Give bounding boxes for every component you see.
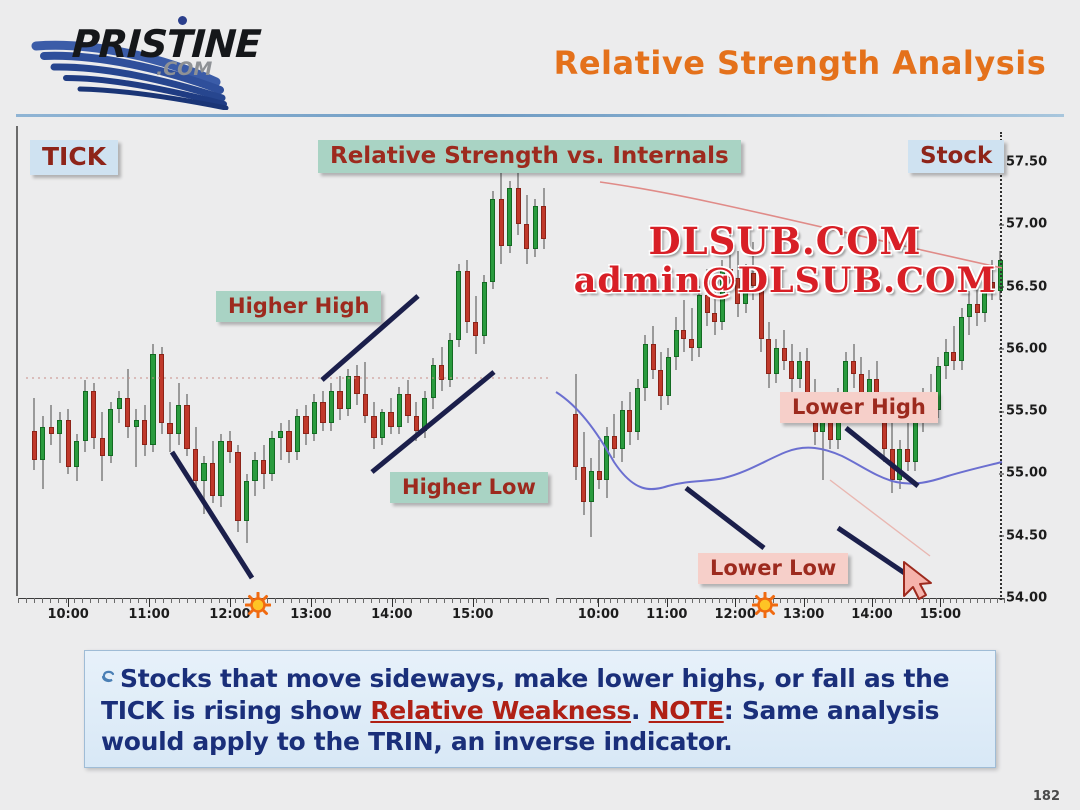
time-tick <box>997 598 998 603</box>
candle-body <box>905 449 910 462</box>
candlestick <box>789 120 794 590</box>
candlestick <box>573 120 578 590</box>
caption-text: Stocks that move sideways, make lower hi… <box>101 661 979 758</box>
time-tick <box>18 598 19 603</box>
time-tick <box>524 598 525 603</box>
time-tick <box>347 598 348 603</box>
time-axis-stock-panel: 10:0011:0012:0013:0014:0015:00 <box>556 598 1004 620</box>
candle-body <box>774 348 779 374</box>
time-tick <box>428 598 429 603</box>
candle-body <box>627 410 632 432</box>
candlestick <box>959 120 964 590</box>
time-tick <box>379 598 380 603</box>
time-tick <box>644 598 645 603</box>
time-tick <box>909 598 910 603</box>
candlestick <box>967 120 972 590</box>
candlestick <box>944 120 949 590</box>
candlestick <box>697 120 702 590</box>
candle-wick <box>953 326 955 370</box>
caption-emphasis-1: Relative Weakness <box>370 696 631 725</box>
candlestick <box>604 120 609 590</box>
time-tick <box>395 598 396 603</box>
candlestick <box>728 120 733 590</box>
time-tick <box>371 598 372 603</box>
label-banner: Relative Strength vs. Internals <box>318 140 741 173</box>
time-tick-label: 13:00 <box>783 607 824 622</box>
time-tick <box>339 598 340 603</box>
price-tick-label: 54.00 <box>1006 591 1047 606</box>
time-tick <box>895 598 896 603</box>
candle-body <box>944 352 949 365</box>
time-tick <box>460 598 461 603</box>
candlestick <box>581 120 586 590</box>
time-tick <box>848 598 849 603</box>
candle-body <box>913 418 918 462</box>
candlestick <box>589 120 594 590</box>
time-tick-major <box>872 598 873 607</box>
candle-body <box>612 436 617 449</box>
price-tick-label: 56.00 <box>1006 341 1047 356</box>
time-tick <box>307 598 308 603</box>
candle-body <box>651 344 656 370</box>
candle-body <box>975 304 980 313</box>
time-tick <box>732 598 733 603</box>
time-tick <box>828 598 829 603</box>
candlestick <box>851 120 856 590</box>
candle-body <box>967 304 972 317</box>
time-tick <box>570 598 571 603</box>
time-tick <box>138 598 139 603</box>
candlestick <box>627 120 632 590</box>
candlestick <box>620 120 625 590</box>
time-tick-label: 15:00 <box>452 607 493 622</box>
time-tick <box>617 598 618 603</box>
time-tick <box>956 598 957 603</box>
candle-wick <box>691 308 693 361</box>
watermark-line-2: admin@DLSUB.COM <box>545 262 1025 300</box>
time-tick <box>705 598 706 603</box>
candlestick <box>805 120 810 590</box>
time-tick <box>90 598 91 603</box>
candlestick <box>867 120 872 590</box>
time-tick <box>211 598 212 603</box>
time-tick <box>882 598 883 603</box>
time-tick <box>355 598 356 603</box>
candle-body <box>766 339 771 374</box>
candle-body <box>635 388 640 432</box>
price-tick-label: 55.00 <box>1006 466 1047 481</box>
time-tick-label: 11:00 <box>646 607 687 622</box>
time-tick <box>315 598 316 603</box>
candle-body <box>789 361 794 379</box>
caption-box: Stocks that move sideways, make lower hi… <box>84 650 996 768</box>
time-tick <box>556 598 557 603</box>
candlestick <box>913 120 918 590</box>
time-tick-major <box>311 598 312 607</box>
time-tick <box>970 598 971 603</box>
time-tick <box>929 598 930 603</box>
candle-body <box>782 348 787 361</box>
time-tick-major <box>473 598 474 607</box>
time-tick-major <box>68 598 69 607</box>
candle-body <box>674 330 679 356</box>
label-lower-low: Lower Low <box>698 553 848 584</box>
time-tick <box>74 598 75 603</box>
time-tick <box>950 598 951 603</box>
candlestick <box>882 120 887 590</box>
time-tick <box>1004 598 1005 603</box>
time-tick <box>610 598 611 603</box>
candlestick <box>635 120 640 590</box>
time-tick-major <box>940 598 941 607</box>
candlestick <box>897 120 902 590</box>
time-tick <box>34 598 35 603</box>
time-tick <box>187 598 188 603</box>
time-tick <box>739 598 740 603</box>
time-tick <box>875 598 876 603</box>
time-tick <box>452 598 453 603</box>
candlestick <box>720 120 725 590</box>
time-tick <box>50 598 51 603</box>
time-tick <box>42 598 43 603</box>
time-tick <box>203 598 204 603</box>
pristine-logo: PRISTINE .COM <box>30 6 270 102</box>
candlestick <box>597 120 602 590</box>
time-tick <box>492 598 493 603</box>
time-tick <box>794 598 795 603</box>
time-tick <box>291 598 292 603</box>
candlestick <box>975 120 980 590</box>
time-tick <box>26 598 27 603</box>
candle-body <box>697 295 702 348</box>
candle-body <box>897 449 902 480</box>
candlestick <box>782 120 787 590</box>
bullet-icon <box>101 661 116 676</box>
label-higher-high: Higher High <box>216 291 381 322</box>
time-tick <box>902 598 903 603</box>
candle-body <box>620 410 625 450</box>
time-tick <box>219 598 220 603</box>
time-tick <box>841 598 842 603</box>
candle-body <box>604 436 609 480</box>
caption-part-2: . <box>631 696 649 725</box>
candle-wick <box>907 423 909 471</box>
time-tick <box>484 598 485 603</box>
time-tick <box>163 598 164 603</box>
time-tick <box>532 598 533 603</box>
time-tick <box>468 598 469 603</box>
time-tick-label: 11:00 <box>128 607 169 622</box>
candlestick <box>982 120 987 590</box>
price-tick-label: 54.50 <box>1006 528 1047 543</box>
time-axis-tick-panel: 10:0011:0012:0013:0014:0015:00 <box>18 598 548 620</box>
slide-header: PRISTINE .COM Relative Strength Analysis <box>0 0 1080 110</box>
time-tick <box>130 598 131 603</box>
candlestick <box>797 120 802 590</box>
candlestick <box>666 120 671 590</box>
candlestick <box>890 120 895 590</box>
candlestick <box>751 120 756 590</box>
time-tick <box>548 598 549 603</box>
time-tick <box>943 598 944 603</box>
time-tick-major <box>230 598 231 607</box>
candle-wick <box>683 300 685 353</box>
candlestick <box>759 120 764 590</box>
time-tick-label: 15:00 <box>920 607 961 622</box>
candlestick <box>836 120 841 590</box>
candlestick <box>828 120 833 590</box>
time-tick <box>323 598 324 603</box>
time-tick <box>726 598 727 603</box>
time-tick <box>814 598 815 603</box>
candle-body <box>681 330 686 339</box>
time-tick <box>516 598 517 603</box>
time-tick <box>444 598 445 603</box>
candle-body <box>890 449 895 480</box>
candlestick <box>735 120 740 590</box>
candlestick <box>712 120 717 590</box>
time-tick-major <box>735 598 736 607</box>
time-tick <box>787 598 788 603</box>
logo-suffix-text: .COM <box>156 58 212 80</box>
time-tick <box>678 598 679 603</box>
candlestick <box>689 120 694 590</box>
logo-dot-icon <box>178 16 187 25</box>
time-tick <box>889 598 890 603</box>
page-number: 182 <box>1033 789 1060 804</box>
time-tick <box>476 598 477 603</box>
time-tick <box>977 598 978 603</box>
time-tick-major <box>392 598 393 607</box>
time-tick <box>58 598 59 603</box>
time-tick-major <box>667 598 668 607</box>
page-title: Relative Strength Analysis <box>540 44 1060 82</box>
time-tick <box>990 598 991 603</box>
time-tick <box>780 598 781 603</box>
price-axis: 57.5057.0056.5056.0055.5055.0054.5054.00 <box>1000 120 1064 610</box>
time-tick <box>155 598 156 603</box>
time-tick-major <box>804 598 805 607</box>
candlestick <box>658 120 663 590</box>
candlestick <box>820 120 825 590</box>
candlestick <box>936 120 941 590</box>
time-tick <box>387 598 388 603</box>
price-tick-label: 57.50 <box>1006 155 1047 170</box>
candlestick <box>705 120 710 590</box>
time-tick-label: 13:00 <box>290 607 331 622</box>
candlestick <box>951 120 956 590</box>
time-tick <box>195 598 196 603</box>
candlestick <box>928 120 933 590</box>
candlestick <box>681 120 686 590</box>
time-tick-label: 14:00 <box>371 607 412 622</box>
time-tick <box>171 598 172 603</box>
time-tick <box>583 598 584 603</box>
caption-emphasis-2: NOTE <box>649 696 724 725</box>
time-tick <box>508 598 509 603</box>
time-tick <box>800 598 801 603</box>
time-tick <box>420 598 421 603</box>
time-tick-label: 14:00 <box>851 607 892 622</box>
label-lower-high: Lower High <box>780 392 938 423</box>
time-tick <box>275 598 276 603</box>
candlestick <box>766 120 771 590</box>
candlestick <box>921 120 926 590</box>
watermark-line-1: DLSUB.COM <box>545 222 1025 262</box>
sun-marker-stock-panel <box>752 592 778 618</box>
time-tick <box>576 598 577 603</box>
time-tick <box>685 598 686 603</box>
time-tick <box>283 598 284 603</box>
time-tick <box>699 598 700 603</box>
time-tick <box>563 598 564 603</box>
candle-body <box>573 414 578 467</box>
candle-body <box>951 352 956 361</box>
time-tick <box>712 598 713 603</box>
time-tick <box>821 598 822 603</box>
time-tick-major <box>149 598 150 607</box>
candlestick <box>612 120 617 590</box>
candle-body <box>597 471 602 480</box>
time-tick <box>363 598 364 603</box>
time-tick <box>299 598 300 603</box>
candlestick <box>990 120 995 590</box>
time-tick <box>331 598 332 603</box>
header-divider <box>16 114 1064 117</box>
time-tick <box>227 598 228 603</box>
time-tick <box>624 598 625 603</box>
candlestick <box>843 120 848 590</box>
time-tick <box>984 598 985 603</box>
label-stock: Stock <box>908 140 1004 173</box>
time-tick-label: 10:00 <box>47 607 88 622</box>
time-tick <box>106 598 107 603</box>
time-tick <box>651 598 652 603</box>
time-tick <box>746 598 747 603</box>
time-tick <box>916 598 917 603</box>
time-tick <box>923 598 924 603</box>
time-tick <box>604 598 605 603</box>
time-tick <box>590 598 591 603</box>
candlestick <box>774 120 779 590</box>
time-tick <box>98 598 99 603</box>
candle-wick <box>598 440 600 488</box>
candlestick <box>859 120 864 590</box>
time-tick <box>665 598 666 603</box>
sun-marker-tick-panel <box>245 592 271 618</box>
time-tick <box>671 598 672 603</box>
time-tick <box>719 598 720 603</box>
time-tick <box>66 598 67 603</box>
candlestick <box>651 120 656 590</box>
candle-body <box>689 339 694 348</box>
time-tick <box>500 598 501 603</box>
candle-body <box>666 357 671 397</box>
candlestick <box>905 120 910 590</box>
time-tick <box>235 598 236 603</box>
time-tick <box>692 598 693 603</box>
time-tick <box>122 598 123 603</box>
time-tick <box>807 598 808 603</box>
candle-body <box>581 467 586 502</box>
time-tick <box>637 598 638 603</box>
price-tick-label: 55.50 <box>1006 404 1047 419</box>
time-tick <box>963 598 964 603</box>
candlestick <box>643 120 648 590</box>
time-tick <box>868 598 869 603</box>
candle-body <box>959 317 964 361</box>
time-tick <box>411 598 412 603</box>
candlestick <box>674 120 679 590</box>
candle-body <box>589 471 594 502</box>
time-tick <box>436 598 437 603</box>
left-panel-axis <box>16 126 552 596</box>
candle-body <box>712 313 717 322</box>
candlestick <box>813 120 818 590</box>
time-tick <box>658 598 659 603</box>
candle-body <box>851 361 856 374</box>
time-tick <box>403 598 404 603</box>
candle-body <box>797 361 802 379</box>
time-tick <box>631 598 632 603</box>
candlestick <box>743 120 748 590</box>
watermark: DLSUB.COM admin@DLSUB.COM <box>545 222 1025 300</box>
time-tick <box>861 598 862 603</box>
time-tick <box>855 598 856 603</box>
candle-body <box>658 370 663 396</box>
time-tick <box>82 598 83 603</box>
time-tick <box>540 598 541 603</box>
time-tick <box>179 598 180 603</box>
time-tick <box>146 598 147 603</box>
candle-body <box>643 344 648 388</box>
label-tick: TICK <box>30 140 118 175</box>
time-tick-label: 12:00 <box>714 607 755 622</box>
candlestick <box>874 120 879 590</box>
time-tick-major <box>598 598 599 607</box>
label-higher-low: Higher Low <box>390 472 548 503</box>
time-tick <box>243 598 244 603</box>
time-tick <box>834 598 835 603</box>
time-tick-label: 10:00 <box>578 607 619 622</box>
time-tick <box>114 598 115 603</box>
time-tick <box>936 598 937 603</box>
price-axis-spine <box>1000 132 1002 600</box>
